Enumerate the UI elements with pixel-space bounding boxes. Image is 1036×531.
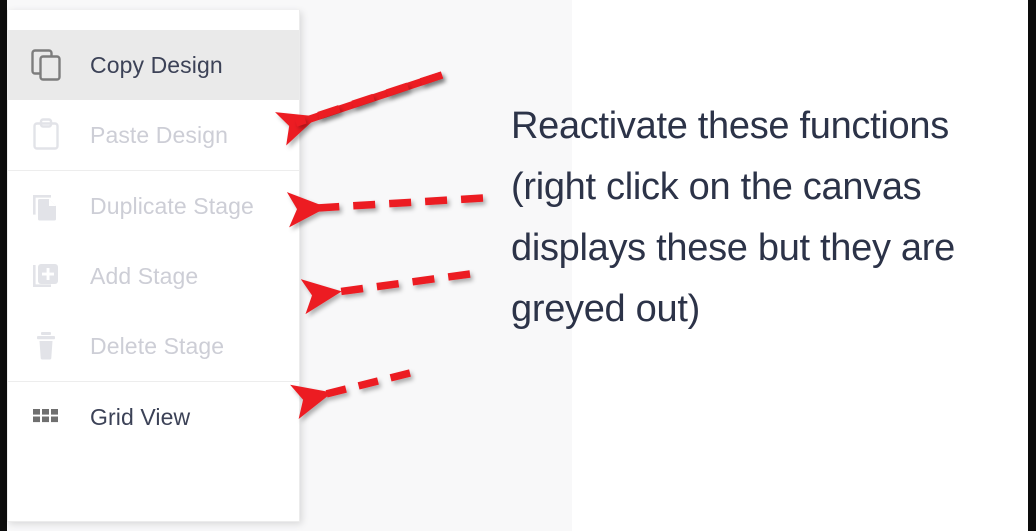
menu-item-delete-stage[interactable]: Delete Stage [8, 311, 299, 381]
menu-item-label: Copy Design [90, 52, 223, 79]
clipboard-icon [29, 118, 69, 152]
screenshot-root: Copy Design Paste Design [0, 0, 1036, 531]
duplicate-document-icon [29, 189, 69, 223]
context-menu-group-design: Copy Design Paste Design [8, 30, 299, 170]
menu-item-label: Delete Stage [90, 333, 224, 360]
menu-item-label: Paste Design [90, 122, 228, 149]
window-right-border [1028, 0, 1036, 531]
context-menu-group-stage: Duplicate Stage Add Stage [8, 170, 299, 381]
menu-item-copy-design[interactable]: Copy Design [8, 30, 299, 100]
menu-item-label: Add Stage [90, 263, 198, 290]
menu-item-add-stage[interactable]: Add Stage [8, 241, 299, 311]
menu-item-label: Duplicate Stage [90, 193, 254, 220]
menu-item-paste-design[interactable]: Paste Design [8, 100, 299, 170]
trash-icon [29, 329, 69, 363]
menu-item-grid-view[interactable]: Grid View [8, 382, 299, 452]
menu-item-duplicate-stage[interactable]: Duplicate Stage [8, 171, 299, 241]
menu-item-label: Grid View [90, 404, 190, 431]
annotation-text: Reactivate these functions (right click … [511, 96, 981, 340]
copy-icon [29, 48, 69, 82]
window-left-border [0, 0, 7, 531]
context-menu-group-view: Grid View [8, 381, 299, 452]
grid-icon [29, 400, 69, 434]
context-menu: Copy Design Paste Design [7, 10, 300, 522]
add-square-plus-icon [29, 259, 69, 293]
